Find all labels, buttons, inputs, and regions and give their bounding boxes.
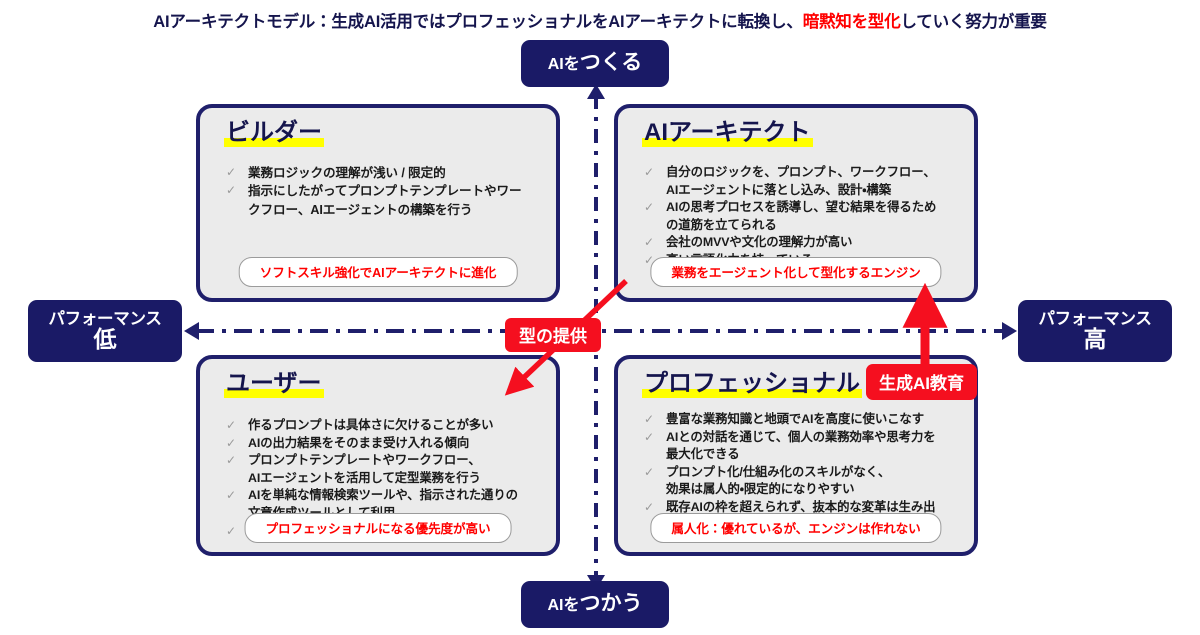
- check-icon: ✓: [226, 452, 248, 469]
- axis-label-top-prefix: AIを: [548, 56, 580, 73]
- quadrant-card-ai-architect[interactable]: AIアーキテクト ✓ 自分のロジックを、プロンプト、ワークフロー、 AIエージェ…: [614, 104, 978, 302]
- check-icon: ✓: [226, 435, 248, 452]
- list-item: ✓ 指示にしたがってプロンプトテンプレートやワー クフロー、AIエージェントの構…: [226, 182, 542, 219]
- check-icon: ✓: [226, 417, 248, 434]
- list-item: ✓ AIとの対話を通じて、個人の業務効率や思考力を 最大化できる: [644, 429, 960, 464]
- title-part2: していく努力が重要: [901, 13, 1047, 31]
- check-icon: ✓: [644, 164, 666, 181]
- quadrant-heading-user: ユーザー: [224, 370, 324, 398]
- check-icon: ✓: [644, 429, 666, 446]
- quadrant-heading-professional: プロフェッショナル: [642, 370, 862, 398]
- quadrant-footer-professional: 属人化：優れているが、エンジンは作れない: [650, 513, 941, 543]
- quadrant-footer-ai-architect: 業務をエージェント化して型化するエンジン: [650, 257, 941, 287]
- list-item: ✓ 豊富な業務知識と地頭でAIを高度に使いこなす: [644, 411, 960, 429]
- quadrant-footer-builder: ソフトスキル強化でAIアーキテクトに進化: [239, 257, 518, 287]
- bullet-list-builder: ✓ 業務ロジックの理解が浅い / 限定的 ✓ 指示にしたがってプロンプトテンプレ…: [226, 164, 542, 219]
- quadrant-heading-builder: ビルダー: [224, 119, 324, 147]
- check-icon: ✓: [644, 411, 666, 428]
- axis-label-right-line2: 高: [1084, 327, 1107, 351]
- quadrant-heading-ai-architect: AIアーキテクト: [642, 119, 813, 147]
- list-item: ✓ 業務ロジックの理解が浅い / 限定的: [226, 164, 542, 182]
- axis-label-left-line2: 低: [94, 327, 117, 351]
- page-title: AIアーキテクトモデル：生成AI活用ではプロフェッショナルをAIアーキテクトに転…: [0, 8, 1200, 32]
- title-part1: AIアーキテクトモデル：生成AI活用ではプロフェッショナルをAIアーキテクトに転…: [153, 13, 802, 31]
- list-item: ✓ AIの出力結果をそのまま受け入れる傾向: [226, 435, 542, 453]
- check-icon: ✓: [644, 199, 666, 216]
- axis-label-right: パフォーマンス 高: [1018, 300, 1172, 362]
- quadrant-card-user[interactable]: ユーザー ✓ 作るプロンプトは具体さに欠けることが多い ✓ AIの出力結果をその…: [196, 355, 560, 556]
- axis-label-left: パフォーマンス 低: [28, 300, 182, 362]
- list-item: ✓ プロンプトテンプレートやワークフロー、 AIエージェントを活用して定型業務を…: [226, 452, 542, 487]
- axis-label-top-main: つくる: [580, 51, 643, 74]
- title-highlight: 暗黙知を型化: [803, 13, 901, 31]
- axis-label-bottom-main: つかう: [580, 592, 643, 615]
- list-item: ✓ 会社のMVVや文化の理解力が高い: [644, 234, 960, 252]
- check-icon: ✓: [226, 487, 248, 504]
- list-item: ✓ 作るプロンプトは具体さに欠けることが多い: [226, 417, 542, 435]
- quadrant-footer-user: プロフェッショナルになる優先度が高い: [245, 513, 512, 543]
- check-icon: ✓: [226, 164, 248, 181]
- axis-label-bottom: AIをつかう: [521, 581, 669, 628]
- check-icon: ✓: [644, 234, 666, 251]
- check-icon: ✓: [644, 464, 666, 481]
- axis-arrow-left-icon: [184, 322, 199, 340]
- badge-generative-ai-education: 生成AI教育: [866, 364, 977, 400]
- check-icon: ✓: [226, 182, 248, 199]
- center-badge-type-provision: 型の提供: [505, 318, 601, 352]
- quadrant-card-builder[interactable]: ビルダー ✓ 業務ロジックの理解が浅い / 限定的 ✓ 指示にしたがってプロンプ…: [196, 104, 560, 302]
- list-item: ✓ AIの思考プロセスを誘導し、望む結果を得るため の道筋を立てられる: [644, 199, 960, 234]
- list-item: ✓ プロンプト化/仕組み化のスキルがなく、 効果は属人的・限定的になりやすい: [644, 464, 960, 499]
- bullet-list-ai-architect: ✓ 自分のロジックを、プロンプト、ワークフロー、 AIエージェントに落とし込み、…: [644, 164, 960, 270]
- list-item: ✓ 自分のロジックを、プロンプト、ワークフロー、 AIエージェントに落とし込み、…: [644, 164, 960, 199]
- axis-arrow-right-icon: [1002, 322, 1017, 340]
- axis-label-top: AIをつくる: [521, 40, 669, 87]
- axis-label-bottom-prefix: AIを: [547, 597, 579, 614]
